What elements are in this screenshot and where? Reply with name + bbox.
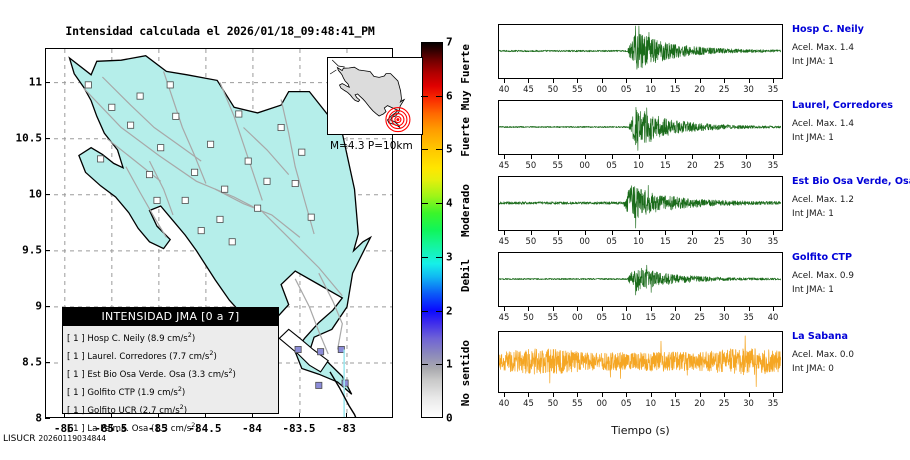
map-y-tick-label: 9.5 bbox=[0, 243, 42, 256]
seismogram-tick-label: 55 bbox=[545, 160, 571, 170]
seismogram-tick-label: 35 bbox=[760, 84, 786, 94]
jma-intensity-label: Int JMA: 1 bbox=[792, 209, 834, 219]
map-y-tickmark bbox=[45, 418, 50, 419]
seismogram-tick-label: 45 bbox=[515, 398, 541, 408]
peak-acceleration-label: Acel. Max. 1.4 bbox=[792, 43, 854, 53]
colorbar-tickmark bbox=[436, 96, 443, 97]
seismogram-tick-label: 10 bbox=[626, 160, 652, 170]
seismogram-tick-label: 50 bbox=[540, 398, 566, 408]
seismogram-tickmark bbox=[719, 231, 720, 235]
time-axis-label: Tiempo (s) bbox=[498, 424, 783, 437]
seismogram-trace-area bbox=[498, 331, 783, 393]
jma-intensity-label: Int JMA: 1 bbox=[792, 285, 834, 295]
map-y-tick-label: 8 bbox=[0, 412, 42, 425]
seismogram-tickmark bbox=[700, 79, 701, 83]
legend-station-list: [ 1 ] Hosp C. Neily (8.9 cm/s2)[ 1 ] Lau… bbox=[63, 326, 278, 436]
seismogram-tickmark bbox=[665, 231, 666, 235]
seismogram-tick-label: 10 bbox=[626, 236, 652, 246]
seismogram-tick-label: 30 bbox=[736, 398, 762, 408]
map-y-tickmark bbox=[45, 306, 50, 307]
seismogram-tickmark bbox=[504, 231, 505, 235]
seismogram-tick-label: 30 bbox=[733, 160, 759, 170]
seismogram-tick-label: 55 bbox=[545, 236, 571, 246]
seismogram-tickmark bbox=[724, 393, 725, 397]
seismogram-tick-label: 15 bbox=[662, 398, 688, 408]
seismogram-tick-label: 30 bbox=[711, 312, 737, 322]
seismogram-tickmark bbox=[585, 231, 586, 235]
seismogram-tick-label: 10 bbox=[638, 398, 664, 408]
seismogram-tickmark bbox=[528, 79, 529, 83]
seismogram-tick-label: 20 bbox=[679, 236, 705, 246]
colorbar-value-label: 7 bbox=[446, 36, 453, 49]
seismogram-tickmark bbox=[504, 307, 505, 311]
map-y-tickmark bbox=[45, 250, 50, 251]
legend-station-row: [ 1 ] La Palma. Osa (1.3 cm/s2) bbox=[67, 418, 278, 436]
colorbar-tickmark bbox=[421, 149, 428, 150]
peak-acceleration-label: Acel. Max. 1.4 bbox=[792, 119, 854, 129]
seismogram-tickmark bbox=[626, 79, 627, 83]
seismogram-tickmark bbox=[724, 307, 725, 311]
seismogram-tickmark bbox=[626, 393, 627, 397]
legend-intensity: [ 1 ] bbox=[67, 424, 85, 434]
seismogram-tickmark bbox=[553, 307, 554, 311]
seismogram-tick-label: 00 bbox=[564, 312, 590, 322]
seismogram-panel: 404550550005101520253035La SabanaAcel. M… bbox=[470, 331, 910, 415]
seismogram-tick-label: 00 bbox=[589, 398, 615, 408]
seismogram-panel: 4550550005101520253035Est Bio Osa Verde,… bbox=[470, 176, 910, 253]
legend-station-name: Golfito CTP bbox=[87, 388, 135, 398]
seismogram-tickmark bbox=[773, 155, 774, 159]
jma-intensity-label: Int JMA: 1 bbox=[792, 133, 834, 143]
seismogram-tickmark bbox=[626, 307, 627, 311]
map-y-tickmark bbox=[45, 362, 50, 363]
seismogram-tickmark bbox=[612, 231, 613, 235]
seismogram-tickmark bbox=[577, 307, 578, 311]
seismogram-tickmark bbox=[528, 393, 529, 397]
seismogram-tick-label: 25 bbox=[711, 84, 737, 94]
seismogram-tickmark bbox=[692, 155, 693, 159]
seismogram-tickmark bbox=[700, 393, 701, 397]
seismogram-tickmark bbox=[651, 393, 652, 397]
colorbar-category-label: Moderado bbox=[459, 184, 472, 237]
seismogram-tick-label: 25 bbox=[706, 160, 732, 170]
seismogram-tickmark bbox=[749, 79, 750, 83]
intensity-map-figure: Intensidad calculada el 2026/01/18_09:48… bbox=[0, 0, 470, 460]
colorbar-tickmark bbox=[421, 96, 428, 97]
seismogram-tickmark bbox=[749, 393, 750, 397]
seismogram-trace-area bbox=[498, 176, 783, 231]
seismogram-tickmark bbox=[531, 231, 532, 235]
location-inset-map bbox=[327, 57, 423, 135]
inset-land bbox=[330, 60, 404, 128]
seismogram-tick-label: 20 bbox=[679, 160, 705, 170]
seismogram-tick-label: 30 bbox=[733, 236, 759, 246]
map-y-tick-label: 10.5 bbox=[0, 131, 42, 144]
colorbar-value-label: 2 bbox=[446, 304, 453, 317]
legend-station-row: [ 1 ] Hosp C. Neily (8.9 cm/s2) bbox=[67, 328, 278, 346]
seismogram-tick-label: 00 bbox=[572, 236, 598, 246]
legend-title: INTENSIDAD JMA [0 a 7] bbox=[63, 308, 278, 326]
legend-station-row: [ 1 ] Est Bio Osa Verde. Osa (3.3 cm/s2) bbox=[67, 364, 278, 382]
seismogram-tickmark bbox=[639, 231, 640, 235]
seismogram-tick-label: 35 bbox=[736, 312, 762, 322]
seismogram-tick-label: 20 bbox=[687, 398, 713, 408]
seismogram-tick-label: 40 bbox=[760, 312, 786, 322]
map-y-tick-label: 9 bbox=[0, 299, 42, 312]
seismogram-tick-label: 35 bbox=[760, 236, 786, 246]
seismogram-tickmark bbox=[639, 155, 640, 159]
seismogram-tickmark bbox=[692, 231, 693, 235]
waveform-svg bbox=[499, 25, 781, 77]
seismogram-tickmark bbox=[746, 155, 747, 159]
map-x-tick-label: -83 bbox=[322, 422, 370, 435]
waveform-svg bbox=[499, 177, 781, 229]
colorbar-value-label: 5 bbox=[446, 143, 453, 156]
legend-accel: (8.9 cm/s2) bbox=[145, 334, 195, 344]
seismogram-tick-label: 00 bbox=[572, 160, 598, 170]
seismogram-trace-area bbox=[498, 24, 783, 79]
map-y-tick-label: 8.5 bbox=[0, 355, 42, 368]
seismogram-tickmark bbox=[773, 307, 774, 311]
colorbar-tickmark bbox=[436, 364, 443, 365]
seismogram-tickmark bbox=[746, 231, 747, 235]
seismogram-tick-label: 05 bbox=[613, 398, 639, 408]
legend-accel: (7.7 cm/s2) bbox=[166, 352, 216, 362]
colorbar-value-label: 1 bbox=[446, 358, 453, 371]
station-name-label: Est Bio Osa Verde, Osa bbox=[792, 176, 910, 187]
map-x-tickmark bbox=[299, 413, 300, 418]
seismogram-tick-label: 45 bbox=[491, 236, 517, 246]
seismogram-tick-label: 05 bbox=[599, 160, 625, 170]
seismogram-tick-label: 10 bbox=[613, 312, 639, 322]
seismogram-tickmark bbox=[651, 79, 652, 83]
seismogram-tickmark bbox=[675, 393, 676, 397]
colorbar-value-label: 0 bbox=[446, 412, 453, 425]
colorbar-value-label: 3 bbox=[446, 250, 453, 263]
colorbar-tickmark bbox=[421, 311, 428, 312]
legend-intensity: [ 1 ] bbox=[67, 406, 85, 416]
colorbar-tickmark bbox=[436, 257, 443, 258]
seismogram-tickmark bbox=[528, 307, 529, 311]
seismogram-tickmark bbox=[553, 393, 554, 397]
legend-intensity: [ 1 ] bbox=[67, 370, 85, 380]
seismogram-tickmark bbox=[585, 155, 586, 159]
seismogram-panel: 4550550005101520253035Laurel, Corredores… bbox=[470, 100, 910, 177]
seismogram-tick-label: 35 bbox=[760, 398, 786, 408]
seismogram-trace-area bbox=[498, 252, 783, 307]
colorbar-category-label: Fuerte bbox=[459, 117, 472, 157]
intensity-colorbar bbox=[421, 42, 443, 418]
colorbar-tickmark bbox=[436, 203, 443, 204]
map-y-tick-label: 10 bbox=[0, 187, 42, 200]
seismogram-panel: 455055000510152025303540Golfito CTPAcel.… bbox=[470, 252, 910, 329]
colorbar-category-label: Debil bbox=[459, 259, 472, 292]
map-x-tick-label: -83.5 bbox=[275, 422, 323, 435]
legend-station-row: [ 1 ] Golfito UCR (2.7 cm/s2) bbox=[67, 400, 278, 418]
legend-accel: (1.3 cm/s2) bbox=[148, 424, 198, 434]
peak-acceleration-label: Acel. Max. 0.0 bbox=[792, 350, 854, 360]
seismogram-tickmark bbox=[504, 393, 505, 397]
seismogram-tick-label: 05 bbox=[589, 312, 615, 322]
colorbar-category-label: Muy Fuerte bbox=[459, 44, 472, 110]
colorbar-tickmark bbox=[421, 364, 428, 365]
seismogram-tick-label: 50 bbox=[540, 84, 566, 94]
seismogram-tickmark bbox=[504, 79, 505, 83]
seismogram-tick-label: 50 bbox=[515, 312, 541, 322]
seismogram-tickmark bbox=[773, 393, 774, 397]
seismogram-tick-label: 45 bbox=[491, 312, 517, 322]
seismogram-tick-label: 20 bbox=[662, 312, 688, 322]
seismogram-tickmark bbox=[773, 231, 774, 235]
waveform-svg bbox=[499, 253, 781, 305]
seismogram-tick-label: 05 bbox=[613, 84, 639, 94]
seismogram-tickmark bbox=[602, 393, 603, 397]
seismogram-tickmark bbox=[719, 155, 720, 159]
seismogram-tickmark bbox=[504, 155, 505, 159]
seismogram-tick-label: 15 bbox=[638, 312, 664, 322]
seismogram-tick-label: 15 bbox=[662, 84, 688, 94]
seismogram-trace-area bbox=[498, 100, 783, 155]
colorbar-category-label: No sentido bbox=[459, 340, 472, 406]
page-title: Intensidad calculada el 2026/01/18_09:48… bbox=[40, 24, 400, 38]
source-label: LISUCR bbox=[3, 434, 36, 444]
legend-accel: (1.9 cm/s2) bbox=[135, 388, 185, 398]
legend-station-name: Est Bio Osa Verde. Osa bbox=[87, 370, 185, 380]
seismogram-tick-label: 10 bbox=[638, 84, 664, 94]
map-y-tickmark bbox=[45, 194, 50, 195]
seismogram-tickmark bbox=[602, 307, 603, 311]
jma-intensity-label: Int JMA: 0 bbox=[792, 364, 834, 374]
seismogram-tick-label: 15 bbox=[652, 236, 678, 246]
colorbar-gradient bbox=[421, 42, 443, 418]
seismogram-tick-label: 30 bbox=[736, 84, 762, 94]
intensity-legend: INTENSIDAD JMA [0 a 7] [ 1 ] Hosp C. Nei… bbox=[62, 307, 279, 414]
colorbar-value-label: 4 bbox=[446, 197, 453, 210]
seismogram-tick-label: 55 bbox=[564, 398, 590, 408]
map-y-tickmark bbox=[45, 82, 50, 83]
inset-map-svg bbox=[328, 58, 423, 135]
seismogram-tickmark bbox=[773, 79, 774, 83]
seismogram-figure: 404550550005101520253035Hosp C. NeilyAce… bbox=[470, 0, 910, 460]
seismogram-tick-label: 40 bbox=[491, 398, 517, 408]
jma-intensity-label: Int JMA: 1 bbox=[792, 57, 834, 67]
seismogram-tickmark bbox=[724, 79, 725, 83]
waveform-svg bbox=[499, 332, 781, 391]
seismogram-tickmark bbox=[675, 307, 676, 311]
seismogram-tickmark bbox=[558, 155, 559, 159]
seismogram-panel: 404550550005101520253035Hosp C. NeilyAce… bbox=[470, 24, 910, 101]
seismogram-tickmark bbox=[577, 79, 578, 83]
seismogram-tick-label: 25 bbox=[711, 398, 737, 408]
seismic-intensity-report: Intensidad calculada el 2026/01/18_09:48… bbox=[0, 0, 910, 460]
map-y-tick-label: 11 bbox=[0, 75, 42, 88]
seismogram-tick-label: 05 bbox=[599, 236, 625, 246]
seismogram-tick-label: 55 bbox=[564, 84, 590, 94]
legend-station-row: [ 1 ] Laurel. Corredores (7.7 cm/s2) bbox=[67, 346, 278, 364]
seismogram-tickmark bbox=[675, 79, 676, 83]
peak-acceleration-label: Acel. Max. 1.2 bbox=[792, 195, 854, 205]
seismogram-tickmark bbox=[602, 79, 603, 83]
seismogram-tickmark bbox=[700, 307, 701, 311]
seismogram-tick-label: 20 bbox=[687, 84, 713, 94]
seismogram-tickmark bbox=[558, 231, 559, 235]
legend-intensity: [ 1 ] bbox=[67, 352, 85, 362]
seismogram-tickmark bbox=[665, 155, 666, 159]
legend-intensity: [ 1 ] bbox=[67, 334, 85, 344]
colorbar-tickmark bbox=[421, 257, 428, 258]
legend-station-name: Golfito UCR bbox=[87, 406, 136, 416]
legend-station-name: Laurel. Corredores bbox=[87, 352, 166, 362]
seismogram-tick-label: 00 bbox=[589, 84, 615, 94]
seismogram-tick-label: 50 bbox=[518, 160, 544, 170]
legend-intensity: [ 1 ] bbox=[67, 388, 85, 398]
seismogram-tick-label: 40 bbox=[491, 84, 517, 94]
seismogram-tickmark bbox=[612, 155, 613, 159]
seismogram-tick-label: 55 bbox=[540, 312, 566, 322]
station-name-label: Hosp C. Neily bbox=[792, 24, 864, 35]
legend-station-name: Hosp C. Neily bbox=[87, 334, 144, 344]
colorbar-tickmark bbox=[421, 203, 428, 204]
station-name-label: La Sabana bbox=[792, 331, 848, 342]
seismogram-tick-label: 45 bbox=[491, 160, 517, 170]
seismogram-tickmark bbox=[749, 307, 750, 311]
seismogram-tick-label: 45 bbox=[515, 84, 541, 94]
seismogram-tickmark bbox=[531, 155, 532, 159]
magnitude-depth-label: M=4.3 P=10km bbox=[330, 140, 413, 152]
legend-station-row: [ 1 ] Golfito CTP (1.9 cm/s2) bbox=[67, 382, 278, 400]
seismogram-tickmark bbox=[651, 307, 652, 311]
seismogram-tick-label: 50 bbox=[518, 236, 544, 246]
seismogram-tick-label: 35 bbox=[760, 160, 786, 170]
legend-accel: (2.7 cm/s2) bbox=[137, 406, 187, 416]
legend-station-name: La Palma. Osa bbox=[87, 424, 148, 434]
seismogram-tickmark bbox=[553, 79, 554, 83]
colorbar-value-label: 6 bbox=[446, 89, 453, 102]
station-name-label: Golfito CTP bbox=[792, 252, 852, 263]
map-y-tickmark bbox=[45, 138, 50, 139]
legend-accel: (3.3 cm/s2) bbox=[186, 370, 236, 380]
map-x-tickmark bbox=[346, 413, 347, 418]
seismogram-tickmark bbox=[577, 393, 578, 397]
colorbar-tickmark bbox=[436, 149, 443, 150]
colorbar-tickmark bbox=[436, 311, 443, 312]
seismogram-tick-label: 25 bbox=[706, 236, 732, 246]
station-name-label: Laurel, Corredores bbox=[792, 100, 893, 111]
waveform-svg bbox=[499, 101, 781, 153]
seismogram-tick-label: 15 bbox=[652, 160, 678, 170]
peak-acceleration-label: Acel. Max. 0.9 bbox=[792, 271, 854, 281]
seismogram-tick-label: 25 bbox=[687, 312, 713, 322]
